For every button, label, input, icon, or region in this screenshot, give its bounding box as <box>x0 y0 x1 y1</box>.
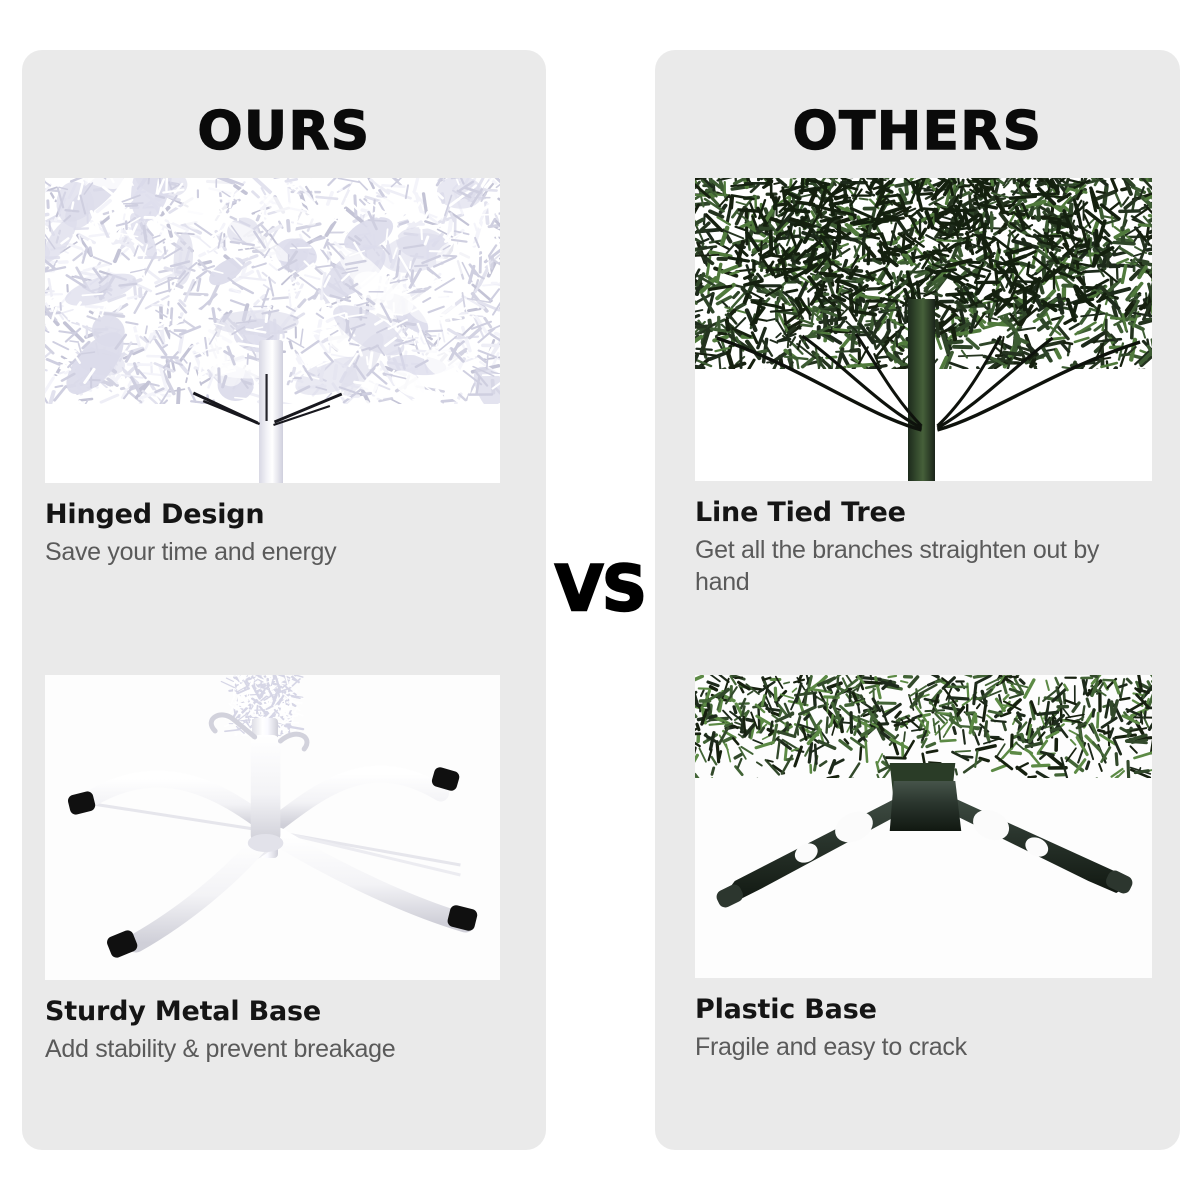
caption-line-tied-tree: Line Tied Tree Get all the branches stra… <box>695 481 1152 598</box>
ours-panel: OURS <box>22 50 546 1150</box>
vs-divider-badge: VS <box>546 540 655 636</box>
feature-title: Sturdy Metal Base <box>45 996 500 1028</box>
ours-heading: OURS <box>22 102 546 162</box>
feature-subtitle: Get all the branches straighten out by h… <box>695 534 1152 598</box>
feature-title: Plastic Base <box>695 994 1152 1026</box>
photo-white-hinged-tree <box>45 178 500 483</box>
feature-sturdy-metal-base: Sturdy Metal Base Add stability & preven… <box>45 675 500 1065</box>
feature-line-tied-tree: Line Tied Tree Get all the branches stra… <box>695 178 1152 598</box>
feature-title: Hinged Design <box>45 499 500 531</box>
photo-plastic-tree-stand <box>695 675 1152 978</box>
photo-metal-tree-stand <box>45 675 500 980</box>
line-tie-wires-icon <box>695 178 1152 481</box>
caption-plastic-base: Plastic Base Fragile and easy to crack <box>695 978 1152 1063</box>
hinge-wires-icon <box>45 178 500 483</box>
feature-subtitle: Fragile and easy to crack <box>695 1031 1152 1063</box>
comparison-infographic: OURS <box>0 0 1200 1200</box>
others-heading: OTHERS <box>655 102 1180 162</box>
photo-green-line-tied-tree <box>695 178 1152 481</box>
feature-hinged-design: Hinged Design Save your time and energy <box>45 178 500 568</box>
feature-subtitle: Save your time and energy <box>45 536 500 568</box>
vs-label: VS <box>555 552 646 625</box>
feature-plastic-base: Plastic Base Fragile and easy to crack <box>695 675 1152 1063</box>
feature-title: Line Tied Tree <box>695 497 1152 529</box>
metal-stand-icon <box>45 675 500 980</box>
others-panel: OTHERS Line Tied Tree Get all <box>655 50 1180 1150</box>
plastic-stand-icon <box>695 675 1152 978</box>
caption-hinged-design: Hinged Design Save your time and energy <box>45 483 500 568</box>
feature-subtitle: Add stability & prevent breakage <box>45 1033 500 1065</box>
caption-sturdy-metal-base: Sturdy Metal Base Add stability & preven… <box>45 980 500 1065</box>
